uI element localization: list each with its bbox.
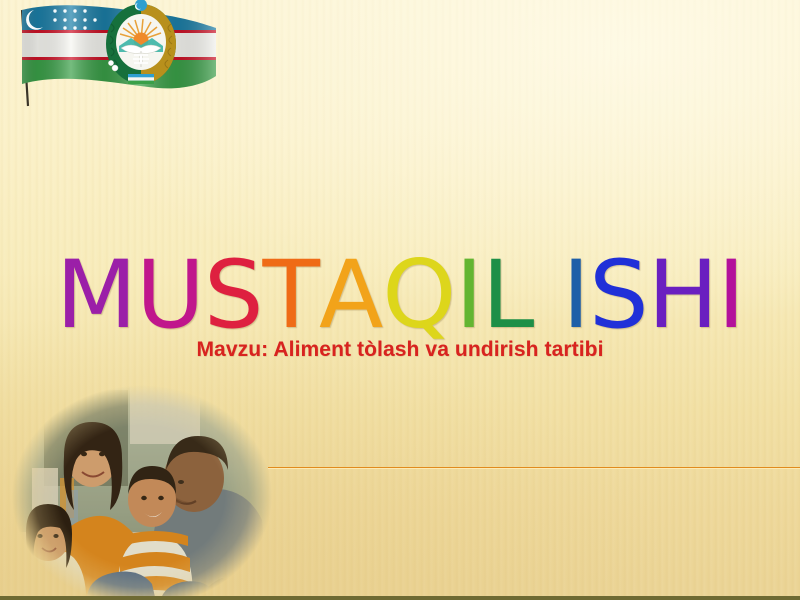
title-letter-6: Q <box>382 249 455 343</box>
title-letter-11: S <box>589 249 648 343</box>
title-letter-9 <box>533 249 562 343</box>
title-letter-2: U <box>136 249 204 343</box>
title-letter-12: H <box>648 249 718 343</box>
title-letter-8: L <box>482 249 533 343</box>
slide-title: MUSTAQIL ISHI <box>0 249 800 343</box>
horizontal-divider-line <box>268 467 800 468</box>
presentation-slide: MUSTAQIL ISHI Mavzu: Aliment tòlash va u… <box>0 0 800 600</box>
slide-bottom-border <box>0 596 800 600</box>
title-letter-10: I <box>562 249 589 343</box>
title-letter-7: I <box>455 249 482 343</box>
title-letter-13: I <box>717 249 744 343</box>
title-letter-4: T <box>263 249 319 343</box>
title-letter-5: A <box>319 249 382 343</box>
uzbekistan-flag-image <box>8 0 218 110</box>
title-letter-1: M <box>56 249 136 343</box>
family-photo <box>8 382 276 600</box>
title-letter-3: S <box>204 249 263 343</box>
slide-subtitle: Mavzu: Aliment tòlash va undirish tartib… <box>0 338 800 362</box>
